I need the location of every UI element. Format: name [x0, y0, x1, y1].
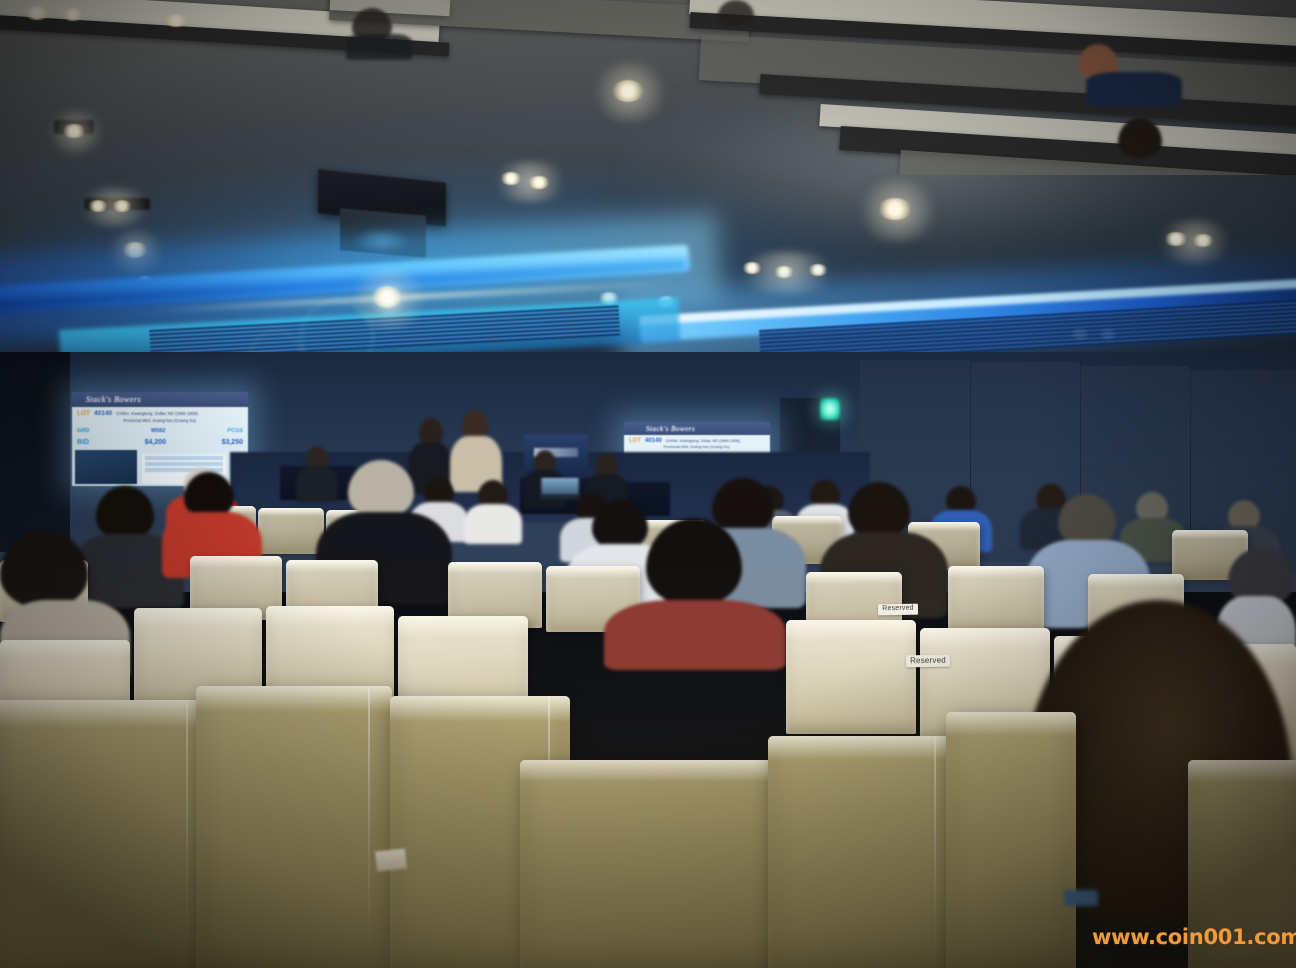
left-screen-desc-2: Provincial Mint. Kuang-hsu (Guang Xu).	[77, 418, 243, 423]
left-screen-bid-key: BID	[77, 439, 89, 446]
left-screen-col1-value: MS62	[151, 428, 165, 434]
watermark: www.coin001.com	[1092, 925, 1296, 949]
chair-row2-5[interactable]	[786, 620, 916, 734]
chair-foreground-6[interactable]	[946, 712, 1076, 968]
left-screen-coin-image	[75, 450, 137, 484]
left-screen-desc-1: CHINA. Kwangtung. Dollar, ND (1890-1908)…	[116, 411, 199, 417]
back-wall-left-dark	[0, 352, 70, 552]
right-screen-lot-label: LOT	[629, 438, 641, 444]
ceiling-spot-9	[164, 14, 188, 27]
auction-hall-photo: Stack's Bowers LOT 40140 CHINA. Kwangtun…	[0, 0, 1296, 968]
left-screen-lot-number: 40140	[94, 410, 112, 417]
right-screen-desc-2: Provincial Mint. Kuang-hsu (Guang Xu).	[629, 445, 765, 449]
balcony-person-1-body	[1086, 72, 1182, 106]
ceiling-spot-7	[24, 6, 50, 20]
left-screen-col1-key: GRD	[77, 428, 89, 434]
chair-row3-7[interactable]	[948, 566, 1044, 634]
ceiling-spot-8	[62, 8, 84, 21]
chair-foreground-4[interactable]	[520, 760, 780, 968]
left-screen-col2-key: PCGS	[227, 428, 243, 434]
blue-object	[1064, 890, 1098, 906]
chair-foreground-2[interactable]	[196, 686, 392, 968]
right-screen-desc-1: CHINA. Kwangtung. Dollar, ND (1890-1908)…	[666, 439, 741, 444]
balcony-person-3-body	[346, 34, 412, 60]
ceiling-spot-flare-source	[372, 286, 402, 308]
left-screen-lot-label: LOT	[77, 410, 90, 417]
left-projection-screen: Stack's Bowers LOT 40140 CHINA. Kwangtun…	[72, 392, 248, 486]
right-screen-lot-number: 40140	[645, 438, 662, 444]
balcony-person-4	[718, 0, 754, 26]
chair-far-2[interactable]	[258, 508, 324, 554]
balcony-person-2	[1118, 118, 1162, 158]
reserved-sign-2: Reserved	[906, 655, 950, 668]
right-screen-logo: Stack's Bowers	[646, 425, 695, 433]
chair-foreground-5[interactable]	[768, 736, 958, 968]
left-screen-bid-value-2: $3,250	[222, 439, 243, 446]
paper-on-seat	[375, 848, 407, 871]
laptop-center-screen	[542, 478, 578, 494]
left-screen-logo: Stack's Bowers	[86, 395, 141, 404]
left-screen-bid-value-1: $4,200	[145, 439, 166, 446]
exit-sign	[820, 398, 840, 420]
chair-foreground-1[interactable]	[0, 700, 220, 968]
reserved-sign-1: Reserved	[878, 604, 918, 616]
